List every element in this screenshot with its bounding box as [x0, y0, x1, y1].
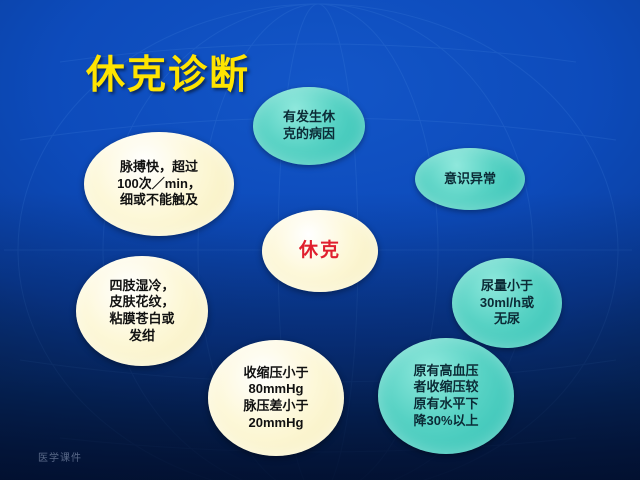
bubble-extremities: 四肢湿冷， 皮肤花纹， 粘膜苍白或 发绀: [76, 256, 208, 366]
bubble-blood-pressure: 收缩压小于 80mmHg 脉压差小于 20mmHg: [208, 340, 344, 456]
bubble-cause-label: 有发生休 克的病因: [283, 109, 335, 142]
bubble-center-label: 休克: [299, 239, 341, 263]
page-title: 休克诊断: [86, 44, 250, 100]
bubble-consciousness: 意识异常: [415, 148, 525, 210]
bubble-center-shock: 休克: [262, 210, 378, 292]
bubble-urine: 尿量小于 30ml/h或 无尿: [452, 258, 562, 348]
slide-canvas: 休克诊断 有发生休 克的病因 脉搏快，超过 100次／min， 细或不能触及 意…: [0, 0, 640, 480]
bubble-blood-pressure-label: 收缩压小于 80mmHg 脉压差小于 20mmHg: [243, 365, 308, 432]
bubble-hypertension-label: 原有高血压 者收缩压较 原有水平下 降30%以上: [413, 363, 478, 430]
bubble-pulse-label: 脉搏快，超过 100次／min， 细或不能触及: [117, 159, 201, 209]
bubble-extremities-label: 四肢湿冷， 皮肤花纹， 粘膜苍白或 发绀: [109, 278, 174, 345]
bubble-urine-label: 尿量小于 30ml/h或 无尿: [480, 278, 534, 328]
bubble-hypertension: 原有高血压 者收缩压较 原有水平下 降30%以上: [378, 338, 514, 454]
bubble-pulse: 脉搏快，超过 100次／min， 细或不能触及: [84, 132, 234, 236]
watermark: 医学课件: [38, 449, 82, 464]
bubble-cause: 有发生休 克的病因: [253, 87, 365, 165]
bubble-consciousness-label: 意识异常: [444, 171, 496, 188]
